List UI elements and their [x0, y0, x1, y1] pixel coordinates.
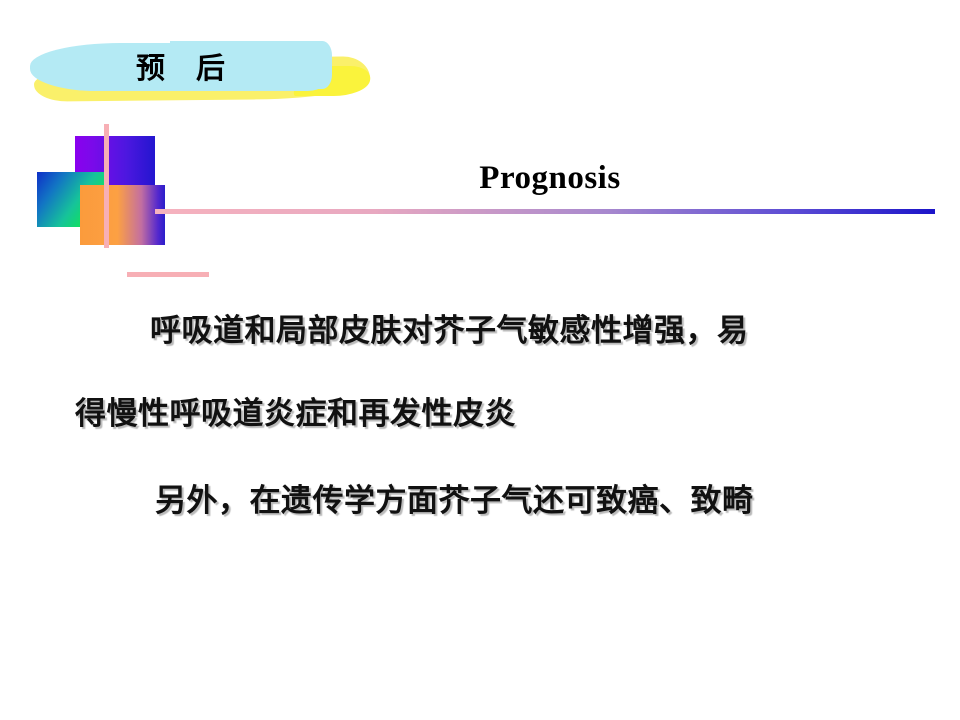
orange-blue-square-icon — [80, 185, 165, 245]
vertical-accent-line — [104, 124, 109, 248]
presentation-slide: 预 后 Prognosis 呼吸道和局部皮肤对芥子气敏感性增强，易 得慢性呼吸道… — [0, 0, 960, 720]
page-title: Prognosis — [160, 160, 940, 197]
gradient-squares-ornament — [30, 122, 180, 250]
body-line-2: 得慢性呼吸道炎症和再发性皮炎 — [75, 388, 960, 433]
title-divider — [155, 209, 935, 214]
body-line-3: 另外，在遗传学方面芥子气还可致癌、致畸 — [155, 475, 960, 520]
banner-title-text: 预 后 — [30, 44, 332, 92]
body-line-1: 呼吸道和局部皮肤对芥子气敏感性增强，易 — [150, 305, 960, 350]
body-text-block: 呼吸道和局部皮肤对芥子气敏感性增强，易 得慢性呼吸道炎症和再发性皮炎 另外，在遗… — [0, 305, 960, 520]
section-title-banner: 预 后 — [30, 36, 370, 102]
horizontal-accent-line — [127, 272, 209, 277]
